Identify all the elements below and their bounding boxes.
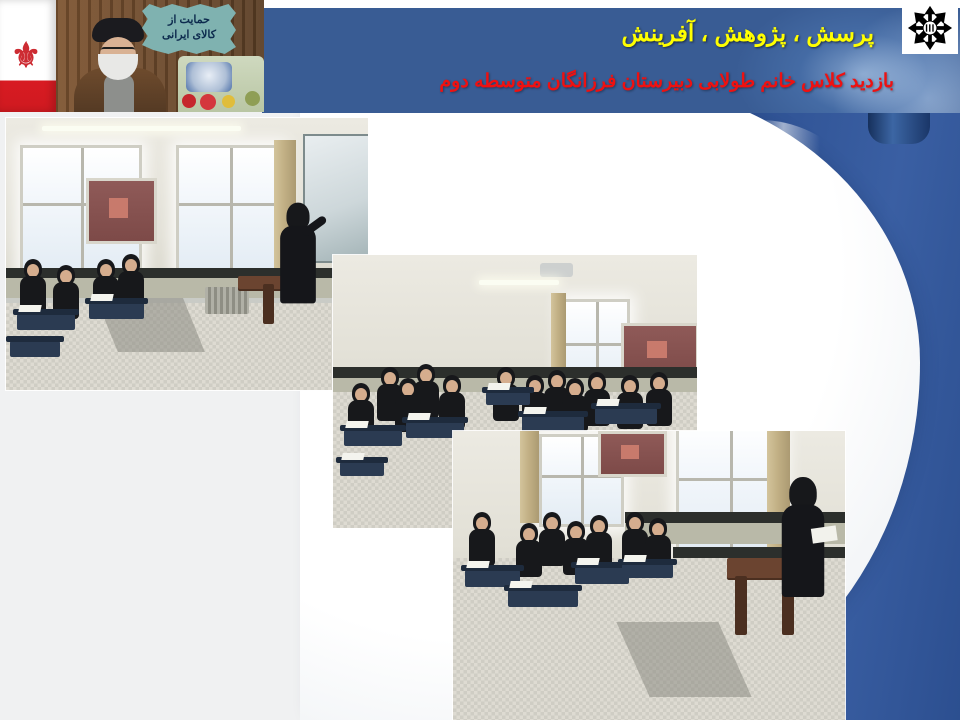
- iran-emblem-icon: ⚜: [6, 34, 46, 78]
- header-banner: پرسش ، پژوهش ، آفرینش بازدید کلاس خانم ط…: [262, 8, 960, 113]
- farzanegan-compass-star-logo: [902, 2, 958, 54]
- classroom-photo-3: classroom with instructor standing besid…: [453, 431, 845, 720]
- window-icon: [176, 145, 283, 276]
- presentation-slide: classroom with teacher writing on whiteb…: [0, 0, 960, 720]
- slogan-line-2: کالای ایرانی: [142, 28, 236, 43]
- slide-title: پرسش ، پژوهش ، آفرینش: [622, 20, 874, 47]
- instructor-figure: [782, 477, 825, 597]
- fruit-icon: [200, 94, 216, 110]
- slide-subtitle: بازدید کلاس خانم طولابی دبیرستان فرزانگا…: [439, 70, 894, 93]
- fruit-icon: [182, 94, 196, 108]
- table-decoration: [178, 56, 264, 112]
- iran-flag-icon: ⚜: [0, 0, 56, 112]
- decorative-plate-icon: [186, 62, 232, 92]
- support-iranian-goods-badge: حمایت از کالای ایرانی: [142, 4, 236, 54]
- student-figure: [539, 512, 565, 566]
- leader-portrait-banner: ⚜ حمایت از کالای ایرانی: [0, 0, 264, 112]
- student-figure: [469, 512, 495, 566]
- teacher-figure: [280, 203, 316, 304]
- slogan-line-1: حمایت از: [142, 13, 236, 28]
- fruit-icon: [245, 91, 260, 106]
- classroom-photo-1: classroom with teacher writing on whiteb…: [6, 118, 368, 390]
- fruit-icon: [222, 95, 235, 108]
